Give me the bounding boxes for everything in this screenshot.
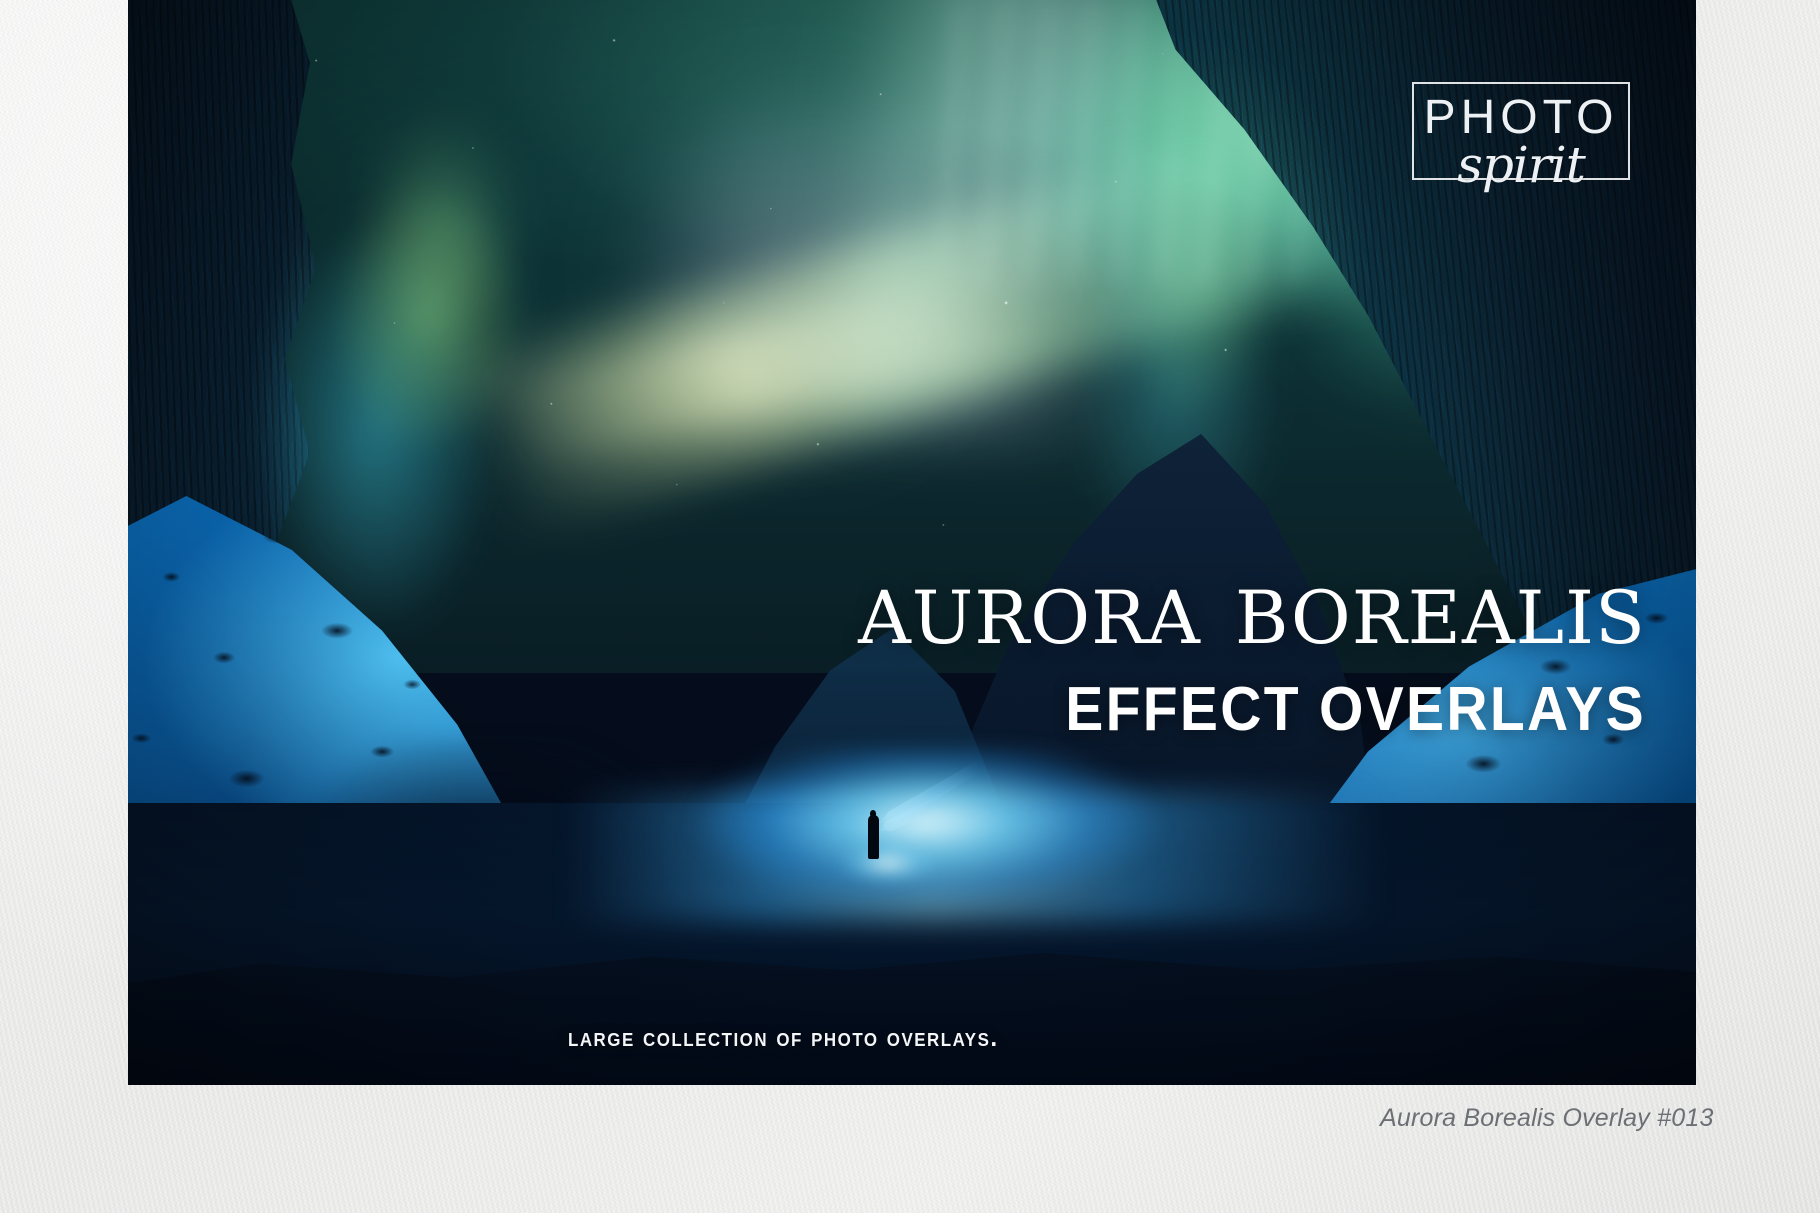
hero-subtitle: Effect Overlays: [921, 674, 1646, 745]
hiker-head: [870, 810, 876, 817]
headlamp-ground-pool: [826, 850, 946, 894]
logo-script-text: spirit: [1412, 140, 1630, 190]
hiker-body: [868, 815, 879, 859]
hiker-silhouette: [867, 801, 880, 859]
image-caption: Aurora Borealis Overlay #013: [1380, 1104, 1714, 1133]
hero-title: Aurora Borealis: [858, 560, 1646, 656]
photo-spirit-logo[interactable]: PHOTO spirit: [1412, 82, 1630, 180]
hero-tagline: Large collection of photo overlays.: [568, 1022, 999, 1053]
hero-photo[interactable]: PHOTO spirit Aurora Borealis Effect Over…: [128, 0, 1696, 1085]
page-canvas: PHOTO spirit Aurora Borealis Effect Over…: [0, 0, 1820, 1213]
title-block: Aurora Borealis Effect Overlays: [858, 560, 1646, 745]
logo-primary-text: PHOTO: [1412, 94, 1630, 142]
